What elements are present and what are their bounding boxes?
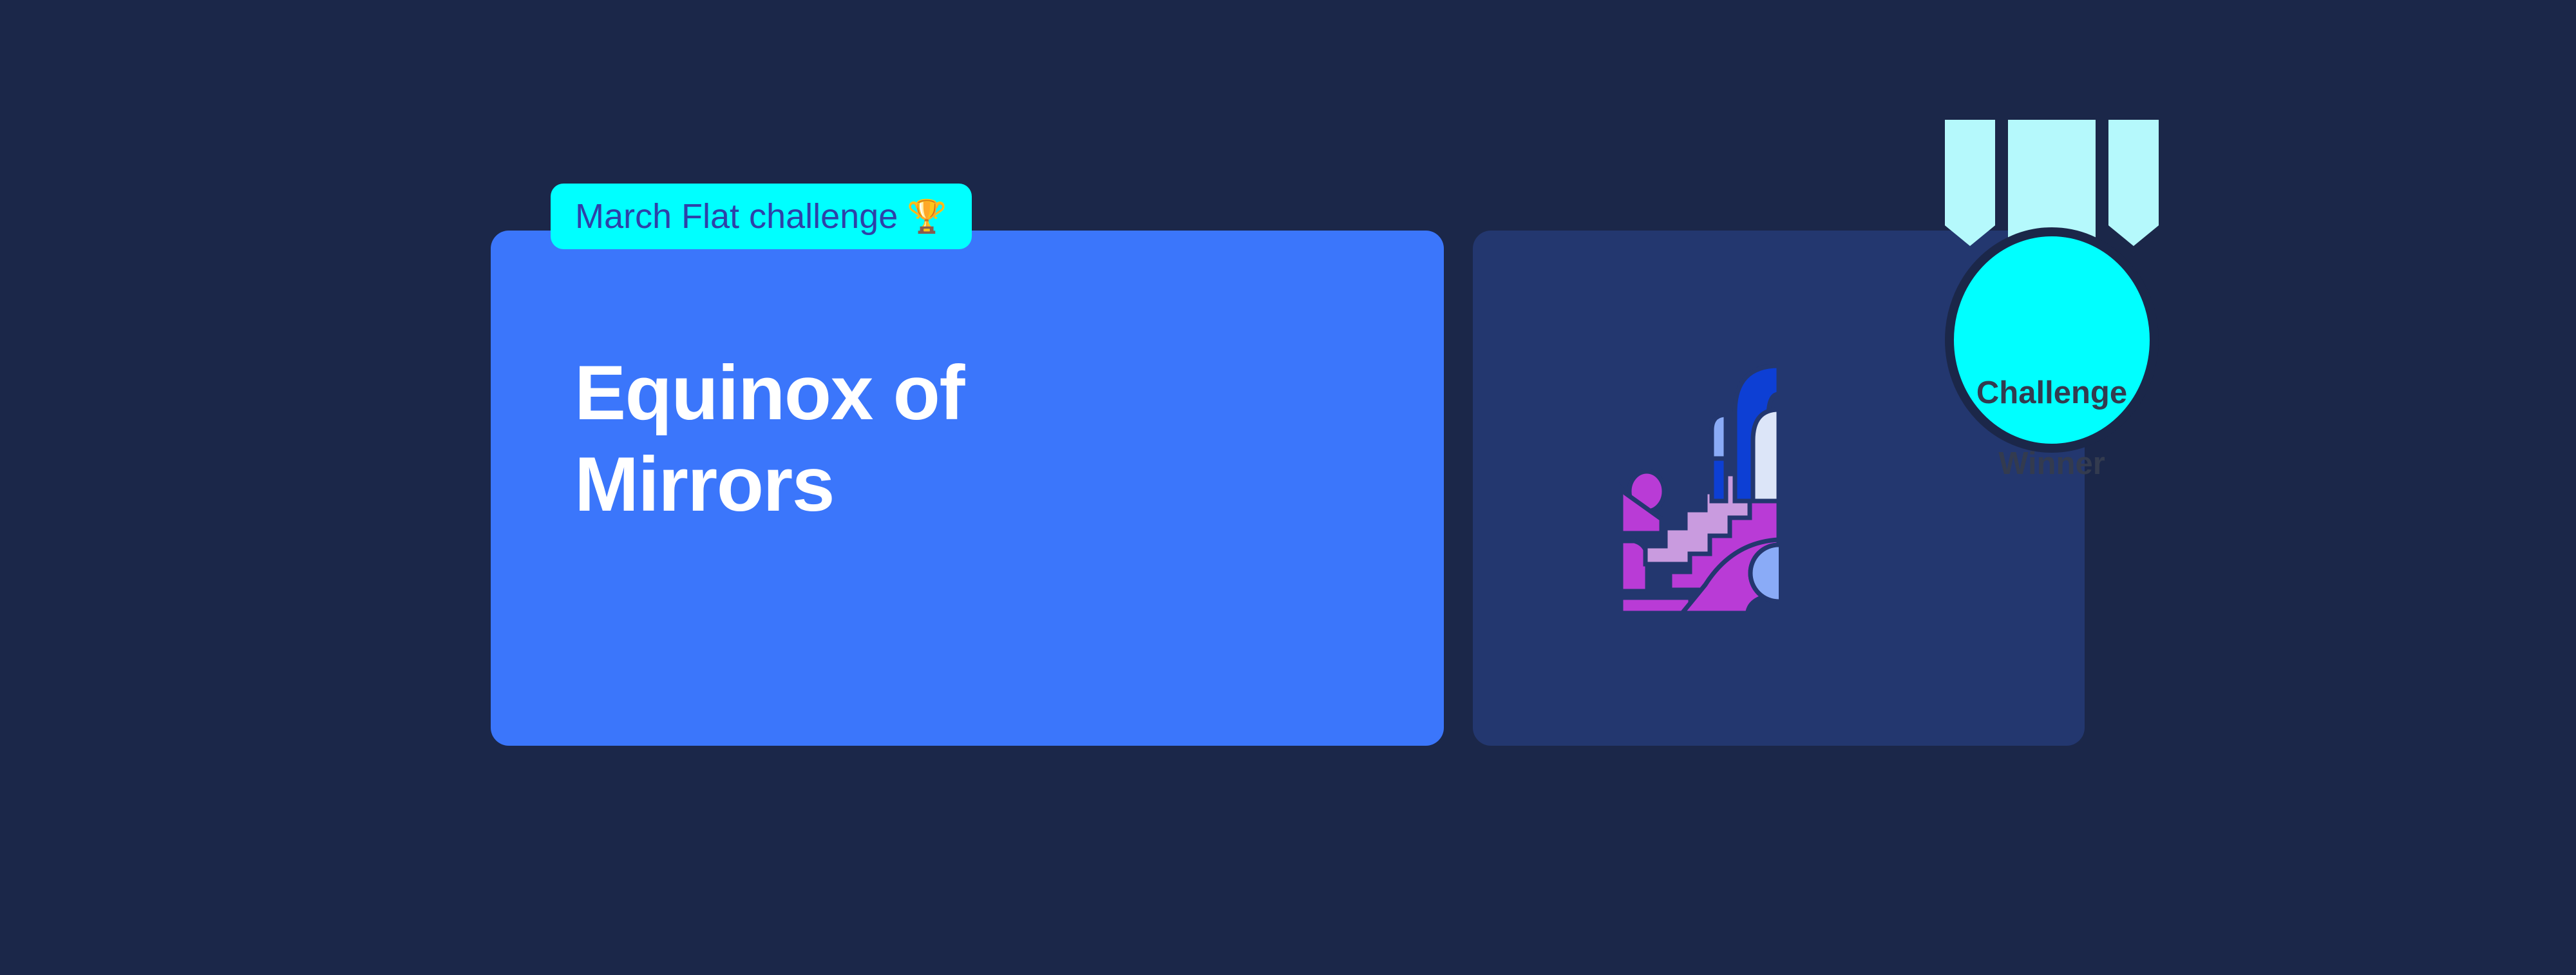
challenge-winner-medal: Challenge Winner [1932,115,2172,514]
challenge-tag-badge[interactable]: March Flat challenge 🏆 [551,184,972,249]
trophy-emoji: 🏆 [907,200,947,232]
challenge-tag-label: March Flat challenge [575,199,898,234]
mirrored-staircase-archway-illustration [1586,327,1972,649]
challenge-hero-card[interactable]: Equinox of Mirrors [491,231,1444,746]
medal-ribbons [1945,120,2159,246]
page-title: Equinox of Mirrors [574,348,1218,530]
page-background: Equinox of Mirrors March Flat challenge … [0,0,2576,975]
